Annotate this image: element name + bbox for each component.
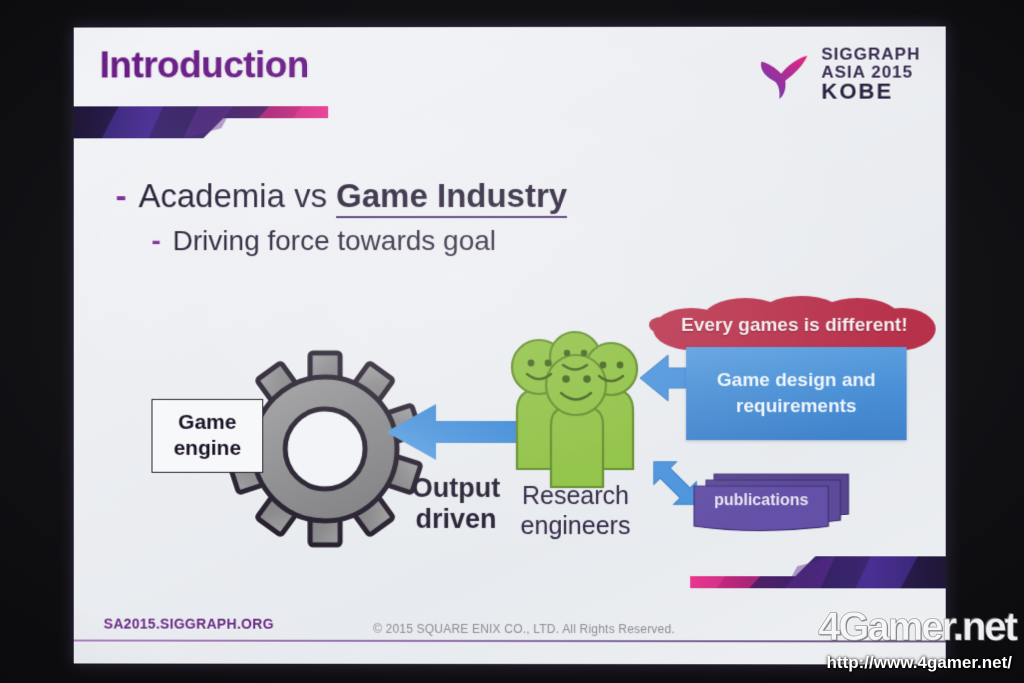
logo-line-kobe: KOBE	[821, 81, 920, 104]
blue-box-line-2: requirements	[736, 394, 857, 420]
footer-site-url: SA2015.SIGGRAPH.ORG	[104, 616, 274, 632]
arrow-left-large-icon	[384, 403, 516, 461]
presentation-slide: Introduction	[74, 26, 946, 664]
watermark-logo: 4Gamer.net	[818, 605, 1016, 650]
projected-slide-photo: Introduction	[0, 0, 1024, 683]
blue-box-line-1: Game design and	[717, 368, 876, 394]
footer-copyright: © 2015 SQUARE ENIX CO., LTD. All Rights …	[373, 622, 675, 636]
game-engine-line-2: engine	[174, 436, 242, 462]
diagram: Game engine Output driven	[74, 277, 946, 578]
watermark: 4Gamer.net http://www.4gamer.net/	[792, 603, 1022, 677]
watermark-url: http://www.4gamer.net/	[827, 653, 1012, 673]
publications-label: publications	[686, 470, 836, 532]
game-engine-line-1: Game	[178, 410, 236, 436]
bullet-primary: -Academia vs Game Industry	[116, 177, 568, 215]
decorative-band-top	[74, 106, 328, 138]
bullet-dash: -	[151, 225, 160, 256]
bullet-primary-emphasis: Game Industry	[336, 177, 567, 218]
callout-cloud-text: Every games is different!	[649, 295, 940, 357]
bullet-dash: -	[116, 177, 127, 214]
logo-line-siggraph: SIGGRAPH	[821, 46, 920, 64]
bullet-primary-text: Academia vs	[139, 177, 337, 214]
siggraph-asia-swoosh-mark	[753, 44, 815, 106]
people-label-line-2: engineers	[493, 511, 658, 541]
people-label-line-1: Research	[493, 482, 658, 512]
siggraph-asia-logo: SIGGRAPH ASIA 2015 KOBE	[753, 39, 933, 111]
page-title: Introduction	[100, 44, 309, 86]
bullet-secondary-text: Driving force towards goal	[173, 225, 496, 256]
research-engineers-people-icon	[505, 319, 645, 489]
game-engine-box: Game engine	[151, 399, 263, 473]
bullet-secondary: -Driving force towards goal	[151, 225, 496, 257]
game-design-requirements-box: Game design and requirements	[686, 347, 906, 440]
research-engineers-label: Research engineers	[493, 482, 658, 541]
